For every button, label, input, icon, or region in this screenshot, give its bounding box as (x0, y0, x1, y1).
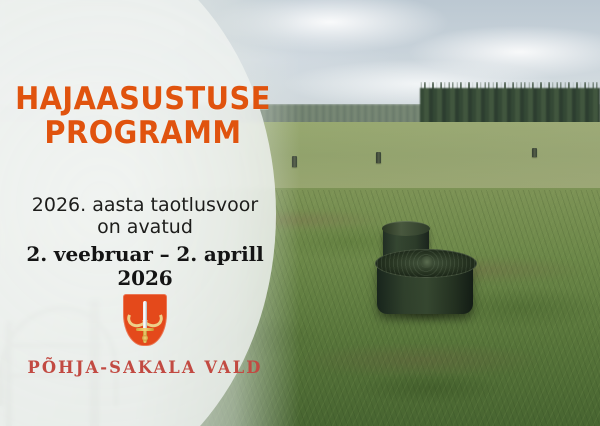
date-range-text: 2. veebruar – 2. aprill 2026 (0, 242, 290, 290)
municipality-name: PÕHJA-SAKALA VALD (6, 358, 284, 378)
septic-tank-large (377, 262, 473, 314)
headline-line-1: HAJAASUSTUSE (10, 84, 276, 116)
poster: HAJAASUSTUSE PROGRAMM 2026. aasta taotlu… (0, 0, 600, 426)
crest-container (0, 294, 290, 346)
poster-content: HAJAASUSTUSE PROGRAMM 2026. aasta taotlu… (0, 0, 300, 426)
subtitle-text: 2026. aasta taotlusvoor on avatud (0, 194, 290, 239)
subtitle-line-1: 2026. aasta taotlusvoor (0, 194, 290, 216)
subtitle-line-2: on avatud (0, 216, 290, 238)
page-title: HAJAASUSTUSE PROGRAMM (10, 84, 276, 149)
sword-icon (143, 301, 147, 329)
vent-pipe-icon (376, 152, 381, 163)
headline-line-2: PROGRAMM (10, 118, 276, 150)
vent-pipe-icon (532, 148, 537, 157)
coat-of-arms-icon (123, 294, 167, 346)
sword-pommel-icon (142, 335, 148, 341)
